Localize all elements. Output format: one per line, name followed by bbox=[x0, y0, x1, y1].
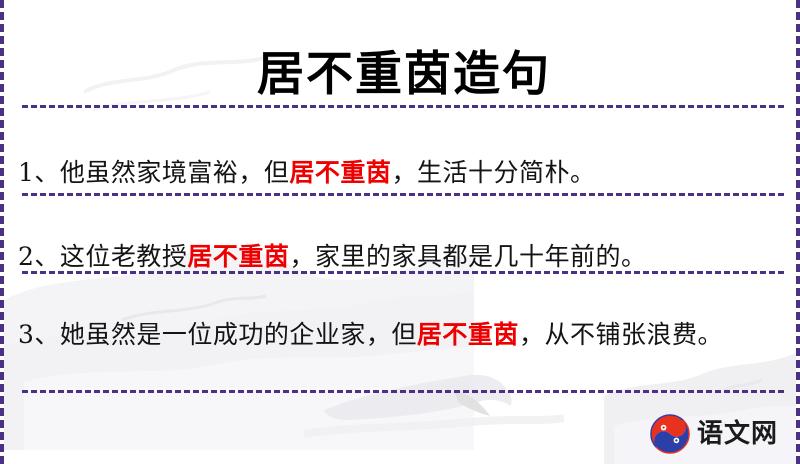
taiji-fish-logo-icon bbox=[650, 414, 690, 454]
example-sentence-1: 1、他虽然家境富裕，但居不重茵，生活十分简朴。 bbox=[18, 152, 770, 194]
divider-top bbox=[22, 105, 784, 108]
sentence-text-after-3: ，从不铺张浪费。 bbox=[519, 320, 723, 349]
site-logo[interactable]: 语文网 bbox=[650, 410, 778, 458]
divider-after-sentence-2 bbox=[22, 271, 784, 274]
page-title: 居不重茵造句 bbox=[257, 47, 551, 102]
idiom-keyword-3: 居不重茵 bbox=[417, 320, 519, 349]
site-logo-text: 语文网 bbox=[697, 421, 778, 447]
sentence-text-after-2: ，家里的家具都是几十年前的。 bbox=[289, 242, 646, 271]
divider-bottom bbox=[22, 390, 784, 393]
sentence-number-2: 2、 bbox=[18, 242, 60, 271]
idiom-keyword-1: 居不重茵 bbox=[289, 158, 391, 187]
page-title-wrap: 居不重茵造句 bbox=[4, 16, 800, 134]
idiom-keyword-2: 居不重茵 bbox=[187, 242, 289, 271]
sentence-text-before-1: 他虽然家境富裕，但 bbox=[60, 158, 290, 187]
sentence-text-after-1: ，生活十分简朴。 bbox=[391, 158, 595, 187]
divider-after-sentence-1 bbox=[22, 193, 784, 196]
sentence-number-1: 1、 bbox=[18, 158, 60, 187]
sentence-number-3: 3、 bbox=[18, 320, 60, 349]
sentence-text-before-2: 这位老教授 bbox=[60, 242, 188, 271]
sentence-text-before-3: 她虽然是一位成功的企业家，但 bbox=[60, 320, 417, 349]
example-sentence-3: 3、她虽然是一位成功的企业家，但居不重茵，从不铺张浪费。 bbox=[18, 314, 770, 356]
page-canvas: 居不重茵造句 1、他虽然家境富裕，但居不重茵，生活十分简朴。 2、这位老教授居不… bbox=[0, 0, 800, 464]
